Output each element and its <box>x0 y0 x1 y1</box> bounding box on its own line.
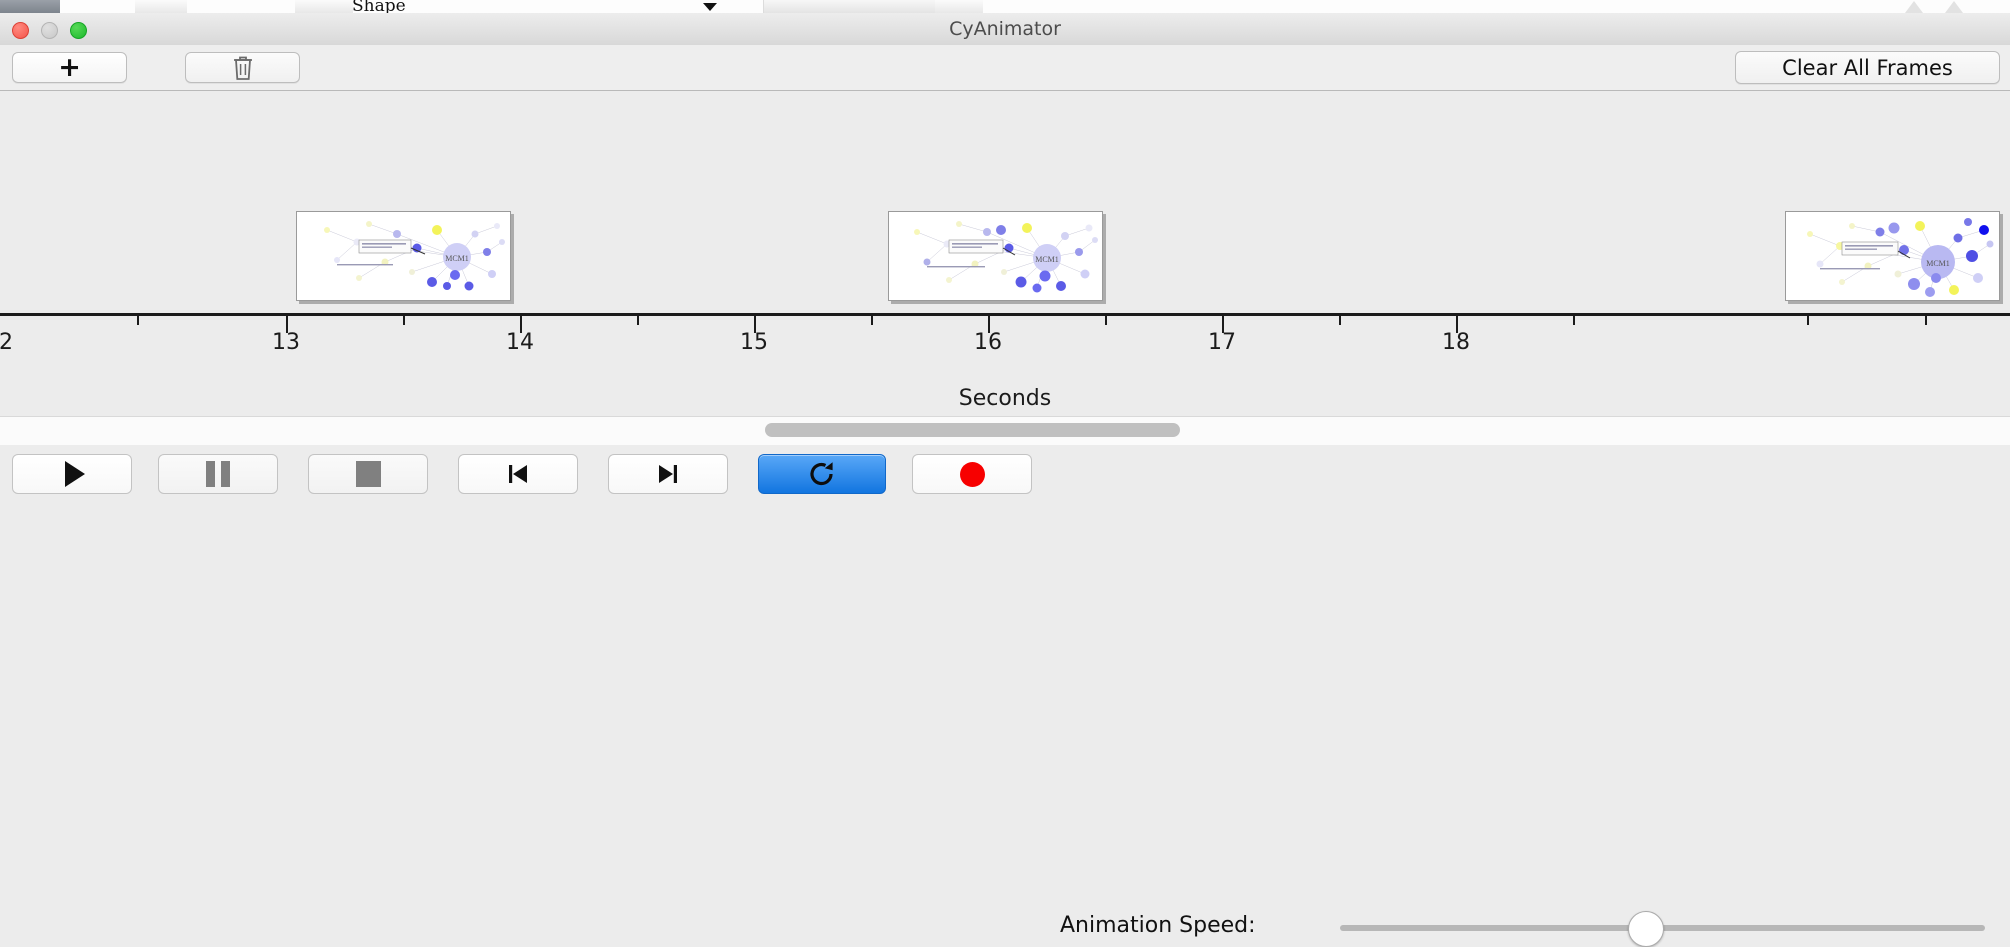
horizontal-scrollbar[interactable] <box>0 416 2010 446</box>
ruler-label: 17 <box>1208 330 1236 355</box>
play-button[interactable] <box>12 454 132 494</box>
skip-back-icon <box>505 461 531 487</box>
trash-icon <box>232 55 254 81</box>
ruler-tick-minor <box>1807 316 1809 325</box>
ruler-tick-minor <box>1339 316 1341 325</box>
bg-triangle-icon <box>1905 1 1923 13</box>
frame-timeline-panel[interactable]: MCM1 <box>0 91 2010 322</box>
network-preview-icon: MCM1 <box>297 212 511 301</box>
bg-chip <box>295 0 354 13</box>
timeline-ruler[interactable] <box>0 313 2010 325</box>
animation-speed-slider-thumb[interactable] <box>1628 911 1664 947</box>
stop-button[interactable] <box>308 454 428 494</box>
svg-text:MCM1: MCM1 <box>445 254 469 263</box>
clear-all-frames-button[interactable]: Clear All Frames <box>1735 51 2000 84</box>
ruler-label: 2 <box>0 330 13 355</box>
record-icon <box>960 462 985 487</box>
ruler-tick-minor <box>1105 316 1107 325</box>
loop-button[interactable] <box>758 454 886 494</box>
svg-text:MCM1: MCM1 <box>1035 255 1059 264</box>
ruler-tick-minor <box>637 316 639 325</box>
svg-text:MCM1: MCM1 <box>1926 259 1950 268</box>
bg-chip <box>0 0 61 13</box>
bg-triangle-icon <box>1945 1 1963 13</box>
ruler-label: 14 <box>506 330 534 355</box>
frame-thumbnail[interactable]: MCM1 <box>888 211 1103 301</box>
network-preview-icon: MCM1 <box>889 212 1103 301</box>
toolbar: + Clear All Frames <box>0 45 2010 91</box>
skip-end-button[interactable] <box>608 454 728 494</box>
bg-chip <box>60 0 136 13</box>
ruler-tick-minor <box>1925 316 1927 325</box>
ruler-tick-minor <box>1573 316 1575 325</box>
background-window-label: Shape <box>352 0 406 14</box>
animation-speed-label: Animation Speed: <box>1060 913 1256 938</box>
network-preview-icon: MCM1 <box>1786 212 2000 301</box>
loop-icon <box>807 459 837 489</box>
add-frame-button[interactable]: + <box>12 52 127 83</box>
background-caret-icon <box>703 3 717 11</box>
title-bar[interactable]: CyAnimator <box>0 13 2010 46</box>
window-title: CyAnimator <box>0 13 2010 45</box>
stop-icon <box>356 461 381 487</box>
play-icon <box>65 461 85 487</box>
skip-forward-icon <box>655 461 681 487</box>
ruler-label: 18 <box>1442 330 1470 355</box>
plus-icon: + <box>58 54 81 81</box>
ruler-label: 13 <box>272 330 300 355</box>
ruler-axis-line <box>0 313 2010 316</box>
axis-title: Seconds <box>0 386 2010 411</box>
ruler-label: 16 <box>974 330 1002 355</box>
frame-thumbnail[interactable]: MCM1 <box>1785 211 2000 301</box>
frame-thumbnail[interactable]: MCM1 <box>296 211 511 301</box>
bg-chip <box>983 0 2010 13</box>
pause-button[interactable] <box>158 454 278 494</box>
transport-bar: Animation Speed: <box>0 445 2010 510</box>
ruler-tick-minor <box>403 316 405 325</box>
cyanimator-window: Shape CyAnimator + Clear All Frames <box>0 0 2010 510</box>
skip-start-button[interactable] <box>458 454 578 494</box>
ruler-label: 15 <box>740 330 768 355</box>
pause-icon <box>206 461 230 487</box>
ruler-tick-minor <box>871 316 873 325</box>
ruler-tick-minor <box>137 316 139 325</box>
background-window-strip: Shape <box>0 0 2010 14</box>
clear-all-frames-label: Clear All Frames <box>1782 56 1953 80</box>
record-button[interactable] <box>912 454 1032 494</box>
scrollbar-thumb[interactable] <box>765 423 1180 437</box>
bg-chip <box>135 0 188 13</box>
bg-chip <box>935 0 984 13</box>
bg-chip <box>187 0 296 13</box>
delete-frame-button[interactable] <box>185 52 300 83</box>
